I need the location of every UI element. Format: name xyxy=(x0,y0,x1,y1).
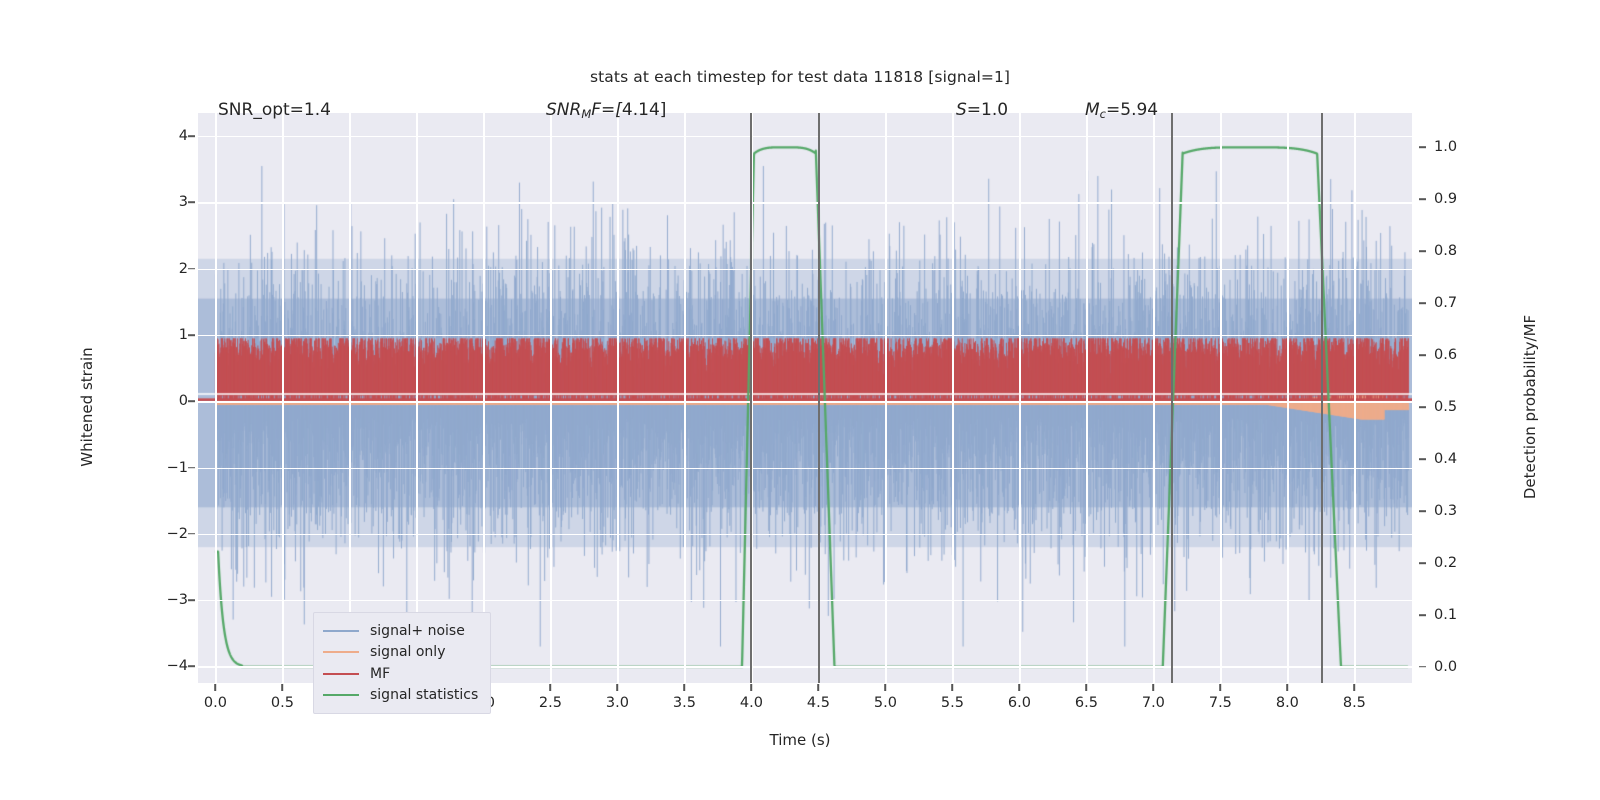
x-axis-tick-mark xyxy=(1220,684,1222,691)
x-axis-tick-mark xyxy=(617,684,619,691)
y-axis-left-tick-mark xyxy=(188,268,195,270)
gridline-vertical xyxy=(215,113,216,683)
legend-item: signal+ noise xyxy=(323,620,478,642)
x-axis-tick-mark xyxy=(818,684,820,691)
gridline-horizontal xyxy=(198,136,1412,137)
gridline-vertical xyxy=(550,113,551,683)
gridline-horizontal xyxy=(198,534,1412,535)
legend-label: signal only xyxy=(370,644,445,660)
event-marker-line xyxy=(750,113,752,683)
gridline-vertical xyxy=(483,113,484,683)
x-axis-tick-mark xyxy=(952,684,954,691)
y-axis-right-tick-mark xyxy=(1419,666,1426,668)
event-marker-line xyxy=(1171,113,1173,683)
y-axis-left-tick-label: 1 xyxy=(128,327,188,343)
legend-label: MF xyxy=(370,666,390,682)
x-axis-tick-mark xyxy=(215,684,217,691)
x-axis-tick-label: 3.0 xyxy=(606,695,629,711)
legend-label: signal statistics xyxy=(370,687,478,703)
y-axis-right-tick-mark xyxy=(1419,562,1426,564)
y-axis-left-tick-mark xyxy=(188,533,195,535)
x-axis-tick-label: 7.5 xyxy=(1209,695,1232,711)
x-axis-tick-label: 4.0 xyxy=(740,695,763,711)
y-axis-right-tick-label: 0.0 xyxy=(1434,659,1504,675)
legend-item: signal only xyxy=(323,642,478,664)
y-axis-right-label: Detection probability/MF xyxy=(1521,247,1539,567)
gridline-horizontal xyxy=(198,202,1412,203)
x-axis-tick-label: 3.5 xyxy=(673,695,696,711)
legend-item: signal statistics xyxy=(323,685,478,707)
annotation-s-stat: S=1.0 xyxy=(956,100,1008,120)
y-axis-right-tick-label: 0.4 xyxy=(1434,451,1504,467)
y-axis-left-tick-label: 0 xyxy=(128,393,188,409)
gridline-vertical xyxy=(1220,113,1221,683)
x-axis-tick-label: 6.0 xyxy=(1008,695,1031,711)
y-axis-right-tick-label: 0.5 xyxy=(1434,399,1504,415)
gridline-vertical xyxy=(1354,113,1355,683)
x-axis-tick-mark xyxy=(885,684,887,691)
x-axis-tick-mark xyxy=(1153,684,1155,691)
legend: signal+ noise signal only MF signal stat… xyxy=(313,612,491,714)
gridline-horizontal xyxy=(198,468,1412,469)
y-axis-left-tick-mark xyxy=(188,599,195,601)
y-axis-left-tick-mark xyxy=(188,401,195,403)
y-axis-right-tick-label: 0.2 xyxy=(1434,555,1504,571)
y-axis-left-tick-mark xyxy=(188,666,195,668)
gridline-vertical xyxy=(684,113,685,683)
x-axis-tick-mark xyxy=(282,684,284,691)
gridline-horizontal xyxy=(198,269,1412,270)
x-axis-tick-label: 4.5 xyxy=(807,695,830,711)
x-axis-tick-label: 8.5 xyxy=(1343,695,1366,711)
x-axis-tick-mark xyxy=(1287,684,1289,691)
x-axis-tick-label: 2.5 xyxy=(539,695,562,711)
y-axis-right-tick-mark xyxy=(1419,146,1426,148)
y-axis-right-tick-label: 0.6 xyxy=(1434,347,1504,363)
y-axis-right-tick-mark xyxy=(1419,250,1426,252)
legend-swatch-signal-only xyxy=(323,651,359,653)
y-axis-right-tick-label: 0.1 xyxy=(1434,607,1504,623)
x-axis-tick-mark xyxy=(550,684,552,691)
y-axis-left-tick-mark xyxy=(188,467,195,469)
y-axis-left-tick-label: −3 xyxy=(128,592,188,608)
y-axis-right-tick-mark xyxy=(1419,406,1426,408)
annotation-snr-opt: SNR_opt=1.4 xyxy=(218,100,331,120)
y-axis-right-tick-label: 1.0 xyxy=(1434,139,1504,155)
gridline-vertical xyxy=(282,113,283,683)
x-axis-tick-label: 8.0 xyxy=(1276,695,1299,711)
y-axis-right-tick-mark xyxy=(1419,198,1426,200)
gridline-vertical xyxy=(349,113,350,683)
x-axis-tick-mark xyxy=(1354,684,1356,691)
legend-swatch-signal-noise xyxy=(323,630,359,632)
y-axis-right-tick-mark xyxy=(1419,510,1426,512)
y-axis-left-tick-label: 2 xyxy=(128,261,188,277)
figure-root: stats at each timestep for test data 118… xyxy=(0,0,1600,800)
y-axis-left-tick-label: −1 xyxy=(128,460,188,476)
series-canvas xyxy=(198,113,1412,683)
y-axis-left-label: Whitened strain xyxy=(78,257,96,557)
y-axis-left-tick-mark xyxy=(188,135,195,137)
annotation-chirp-mass: Mc=5.94 xyxy=(1085,100,1158,120)
x-axis-tick-mark xyxy=(684,684,686,691)
chart-title: stats at each timestep for test data 118… xyxy=(0,68,1600,86)
x-axis-tick-label: 0.5 xyxy=(271,695,294,711)
gridline-vertical xyxy=(952,113,953,683)
x-axis-tick-label: 5.0 xyxy=(874,695,897,711)
y-axis-left-tick-label: −4 xyxy=(128,658,188,674)
y-axis-right-tick-label: 0.7 xyxy=(1434,295,1504,311)
gridline-vertical xyxy=(1153,113,1154,683)
gridline-vertical xyxy=(1086,113,1087,683)
x-axis-tick-label: 7.0 xyxy=(1142,695,1165,711)
event-marker-line xyxy=(1321,113,1323,683)
x-axis-tick-label: 0.0 xyxy=(204,695,227,711)
y-axis-right-tick-mark xyxy=(1419,354,1426,356)
legend-swatch-signal-statistics xyxy=(323,694,359,696)
y-axis-left-tick-label: 3 xyxy=(128,194,188,210)
x-axis-tick-mark xyxy=(751,684,753,691)
x-axis-label: Time (s) xyxy=(0,731,1600,749)
legend-item: MF xyxy=(323,663,478,685)
gridline-vertical xyxy=(1287,113,1288,683)
x-axis-tick-label: 6.5 xyxy=(1075,695,1098,711)
y-axis-left-tick-mark xyxy=(188,334,195,336)
legend-swatch-mf xyxy=(323,673,359,675)
gridline-vertical xyxy=(885,113,886,683)
legend-label: signal+ noise xyxy=(370,623,465,639)
x-axis-tick-label: 5.5 xyxy=(941,695,964,711)
y-axis-right-tick-label: 0.9 xyxy=(1434,191,1504,207)
gridline-horizontal xyxy=(198,600,1412,601)
event-marker-line xyxy=(818,113,820,683)
y-axis-right-tick-label: 0.8 xyxy=(1434,243,1504,259)
y-axis-right-tick-label: 0.3 xyxy=(1434,503,1504,519)
gridline-horizontal xyxy=(198,401,1412,402)
gridline-horizontal xyxy=(198,335,1412,336)
gridline-vertical xyxy=(617,113,618,683)
y-axis-left-tick-label: −2 xyxy=(128,526,188,542)
y-axis-right-tick-mark xyxy=(1419,302,1426,304)
x-axis-tick-mark xyxy=(1086,684,1088,691)
y-axis-right-tick-mark xyxy=(1419,614,1426,616)
annotation-snr-mf: SNRMF=[4.14] xyxy=(546,100,666,120)
y-axis-left-tick-label: 4 xyxy=(128,128,188,144)
x-axis-tick-mark xyxy=(1019,684,1021,691)
gridline-vertical xyxy=(416,113,417,683)
y-axis-right-tick-mark xyxy=(1419,458,1426,460)
gridline-vertical xyxy=(1019,113,1020,683)
plot-area xyxy=(198,113,1412,683)
y-axis-left-tick-mark xyxy=(188,202,195,204)
